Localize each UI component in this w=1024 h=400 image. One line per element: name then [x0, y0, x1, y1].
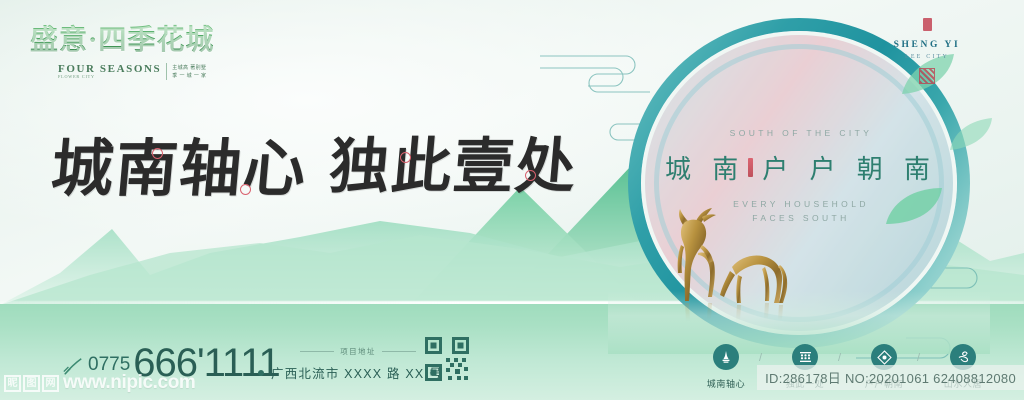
logo-english-text: FOUR SEASONS — [58, 63, 161, 75]
arch-slogan-right: 户 户 朝 南 — [762, 149, 937, 186]
qr-code-icon[interactable] — [424, 336, 470, 382]
developer-subname: LEE CITY — [882, 54, 972, 60]
deer-grazing — [720, 255, 787, 303]
developer-name: SHENG YI — [882, 40, 972, 50]
poster-canvas: 盛意·四季花城 FOUR SEASONS FLOWER CITY 主城高 著别墅… — [0, 0, 1024, 400]
deer-sculpture-group — [652, 205, 802, 325]
logo-cn-line-2: 季 一 城 一 家 — [172, 72, 206, 80]
watermark-site: 昵 图 网 www.nipic.com — [4, 372, 195, 394]
watermark-id: ID:286178日 NO:20201061 62408812080 — [757, 365, 1024, 390]
logo-english-sub: FLOWER CITY — [58, 75, 161, 79]
feature-item-0[interactable]: 城南轴心 — [693, 344, 759, 390]
watermark-char-3: 网 — [42, 375, 59, 392]
address-label: 项目地址 — [340, 346, 376, 357]
seal-mark-icon — [748, 158, 753, 177]
feature-separator-1: / — [838, 344, 851, 364]
headline-accent-dot-3 — [400, 152, 411, 163]
deer-reflection — [685, 303, 783, 321]
watermark-url: www.nipic.com — [63, 372, 195, 394]
seal-stamp-icon — [919, 68, 935, 84]
watermark-char-2: 图 — [23, 375, 40, 392]
watermark-char-1: 昵 — [4, 375, 21, 392]
project-logo: 盛意·四季花城 FOUR SEASONS FLOWER CITY 主城高 著别墅… — [30, 18, 240, 80]
address-rule-left — [300, 351, 334, 352]
bullet-dot-icon — [258, 370, 264, 376]
tower-icon — [713, 344, 739, 370]
headline-secondary: 独此壹处 — [326, 118, 582, 205]
feature-separator-2: / — [917, 344, 930, 364]
deer-standing — [678, 208, 716, 301]
seal-stamp-top-icon — [923, 18, 932, 31]
feature-label-0: 城南轴心 — [693, 377, 759, 390]
feature-separator-0: / — [759, 344, 772, 364]
watermark-logo-icon: 昵 图 网 — [4, 375, 59, 392]
arch-top-english: SOUTH OF THE CITY — [660, 128, 942, 138]
address-rule-right — [382, 351, 416, 352]
leaf-icon-far-right — [948, 116, 994, 154]
headline-accent-dot-1 — [152, 148, 163, 159]
address-text: 广西北流市 XXXX 路 XX 号 — [271, 363, 443, 382]
headline-accent-dot-4 — [525, 170, 536, 181]
logo-cn-line-1: 主城高 著别墅 — [172, 64, 206, 72]
arch-slogan-left: 城 南 — [665, 149, 745, 186]
headline-accent-dot-2 — [240, 184, 251, 195]
headline-primary: 城南轴心 — [48, 118, 312, 208]
logo-english-name: FOUR SEASONS FLOWER CITY — [58, 64, 161, 80]
logo-divider — [166, 63, 167, 80]
logo-subtitle-group: FOUR SEASONS FLOWER CITY 主城高 著别墅 季 一 城 一… — [30, 63, 240, 80]
developer-brand-mark: SHENG YI LEE CITY — [882, 18, 972, 84]
arch-main-slogan: 城 南 户 户 朝 南 — [660, 149, 942, 186]
logo-main-title: 盛意·四季花城 — [30, 18, 240, 58]
logo-chinese-taglines: 主城高 著别墅 季 一 城 一 家 — [172, 64, 206, 80]
